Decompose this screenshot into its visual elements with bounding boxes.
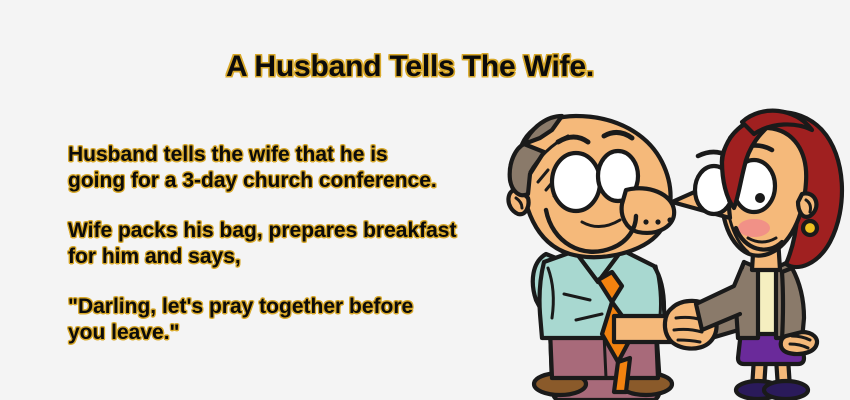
meme-canvas: A Husband Tells The Wife. Husband tells … — [0, 0, 850, 400]
wife-figure — [665, 111, 842, 399]
paragraph-2-line-1: Wife packs his bag, prepares breakfast — [68, 218, 508, 244]
husband-figure — [508, 116, 692, 400]
page-title: A Husband Tells The Wife. — [0, 50, 820, 84]
paragraph-3-line-1: "Darling, let's pray together before — [68, 294, 508, 320]
meme-body-text: Husband tells the wife that he is going … — [68, 142, 508, 346]
husband-wife-handshake-illustration — [486, 86, 850, 400]
paragraph-3: "Darling, let's pray together before you… — [68, 294, 508, 346]
paragraph-1-line-1: Husband tells the wife that he is — [68, 142, 508, 168]
paragraph-2: Wife packs his bag, prepares breakfast f… — [68, 218, 508, 270]
paragraph-3-line-2: you leave." — [68, 320, 508, 346]
paragraph-1: Husband tells the wife that he is going … — [68, 142, 508, 194]
paragraph-2-line-2: for him and says, — [68, 244, 508, 270]
paragraph-1-line-2: going for a 3-day church conference. — [68, 168, 508, 194]
